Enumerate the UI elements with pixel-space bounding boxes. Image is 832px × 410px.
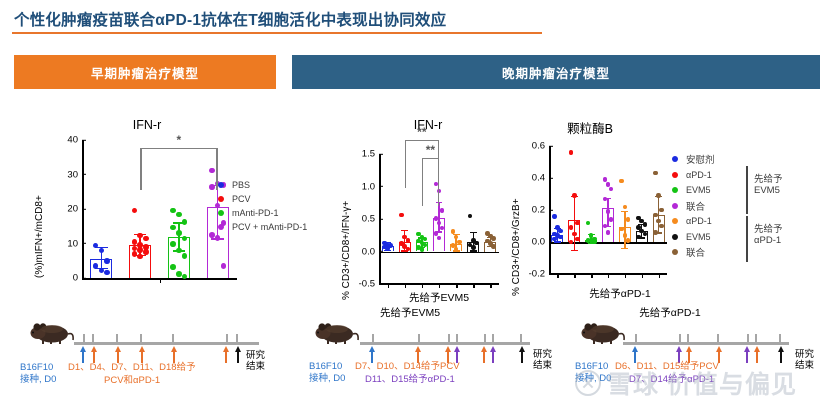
timeline-dose-line1: D7、D10、D14给予PCV xyxy=(355,361,460,373)
timeline-arrow-head xyxy=(171,346,177,352)
timeline-arrow-head xyxy=(235,346,241,352)
legend-swatch-icon xyxy=(672,249,678,255)
legend-item[interactable]: PCV xyxy=(218,192,307,206)
chart-ylabel-late-grzb: % CD3+/CD8+/GrzB+ xyxy=(511,198,522,296)
timeline-tick xyxy=(83,334,85,343)
timeline-mid: 先给予EVM5B16F10接种, D0D7、D10、D14给予PCVD11、D1… xyxy=(305,305,573,408)
timeline-tick xyxy=(687,334,689,343)
timeline-tick xyxy=(140,334,142,343)
timeline-tick xyxy=(635,334,637,343)
timeline-axis xyxy=(623,342,789,345)
data-point xyxy=(143,249,149,255)
timeline-start-line1: B16F10 xyxy=(309,361,345,373)
x-tick xyxy=(490,283,491,288)
data-point xyxy=(182,253,188,259)
timeline-tick xyxy=(226,334,228,343)
data-point xyxy=(137,233,143,239)
data-point xyxy=(176,271,182,277)
data-point xyxy=(653,171,658,176)
mouse-illustration xyxy=(28,320,74,351)
y-tick-label: 0.0 xyxy=(362,246,379,257)
y-tick-label: 40 xyxy=(67,135,82,146)
timeline-arrow-head xyxy=(369,346,375,352)
timeline-tick xyxy=(418,334,420,343)
data-point xyxy=(176,230,182,236)
timeline-arrow-head xyxy=(744,346,750,352)
timeline-start-label: B16F10接种, D0 xyxy=(20,362,56,386)
mouse-illustration-icon xyxy=(28,320,74,346)
timeline-dose-line2: PCV和αPD-1 xyxy=(104,375,160,387)
chart-ylabel-late-ifn: % CD3+/CD8+/IFN-γ+ xyxy=(341,201,352,300)
banner-early-model: 早期肿瘤治疗模型 xyxy=(14,55,276,89)
data-point xyxy=(385,246,390,251)
timeline-arrow-head xyxy=(115,346,121,352)
data-point xyxy=(170,208,176,214)
significance-bracket xyxy=(422,158,439,206)
data-point xyxy=(653,230,658,235)
timeline-end-line1: 研究 xyxy=(246,350,265,361)
mouse-illustration xyxy=(579,320,625,351)
data-point xyxy=(176,248,182,254)
timeline-arrow-head xyxy=(490,346,496,352)
legend-group-brace xyxy=(746,216,748,262)
data-point xyxy=(221,263,227,269)
legend-item[interactable]: 联合 xyxy=(672,245,705,259)
data-point xyxy=(606,230,611,235)
timeline-dose-line1: D1、D4、D7、D11、D18给予 xyxy=(68,362,196,374)
timeline-arrow-head xyxy=(80,346,86,352)
significance-bracket xyxy=(140,148,218,190)
error-bar xyxy=(178,222,179,250)
chart-xlabel-late-grzb: 先给予αPD-1 xyxy=(560,286,680,301)
mouse-illustration-icon xyxy=(313,320,359,346)
error-bar-cap xyxy=(470,250,477,251)
chart-title-early-ifn: IFN-r xyxy=(62,118,232,132)
title-underline xyxy=(12,32,542,34)
timeline-tick xyxy=(172,334,174,343)
data-point xyxy=(451,229,456,234)
timeline-arrow-head xyxy=(454,346,460,352)
significance-star: ** xyxy=(422,143,439,157)
error-bar-cap xyxy=(554,241,561,242)
y-tick-label: 1.5 xyxy=(362,149,379,160)
data-point xyxy=(623,205,628,210)
legend-item[interactable]: PBS xyxy=(218,178,307,192)
x-tick xyxy=(642,273,643,278)
data-point xyxy=(643,222,648,227)
legend-item[interactable]: EVM5 xyxy=(672,183,711,197)
legend-label: EVM5 xyxy=(686,232,711,242)
data-point xyxy=(575,237,580,242)
data-point xyxy=(552,214,557,219)
x-axis xyxy=(549,242,667,244)
banner-late-model: 晚期肿瘤治疗模型 xyxy=(292,55,820,89)
data-point xyxy=(609,187,614,192)
data-point xyxy=(209,232,215,238)
x-tick xyxy=(591,273,592,278)
legend-swatch-icon xyxy=(672,187,678,193)
data-point xyxy=(656,193,661,198)
timeline-arrow-head xyxy=(519,346,525,352)
timeline-start-line2: 接种, D0 xyxy=(20,374,56,386)
x-tick xyxy=(608,273,609,278)
mouse-illustration-icon xyxy=(579,320,625,346)
timeline-tick xyxy=(236,334,238,343)
timeline-tick xyxy=(92,334,94,343)
data-point xyxy=(399,213,404,218)
timeline-tick xyxy=(679,334,681,343)
data-point xyxy=(104,270,110,276)
data-point xyxy=(137,247,143,253)
chart-xlabel-late-ifn: 先给予EVM5 xyxy=(369,290,509,305)
timeline-axis xyxy=(360,342,530,345)
data-point xyxy=(471,245,476,250)
timeline-arrow xyxy=(483,351,486,363)
timeline-arrow-head xyxy=(676,346,682,352)
timeline-tick xyxy=(747,334,749,343)
x-tick xyxy=(160,278,161,283)
y-tick-label: 0 xyxy=(73,273,82,284)
timeline-arrow xyxy=(521,351,524,363)
significance-star: * xyxy=(140,133,218,147)
chart-panel-late-ifn: IFN-r % CD3+/CD8+/IFN-γ+ -0.50.00.51.01.… xyxy=(333,118,513,318)
data-point xyxy=(434,216,439,221)
timeline-right: 先给予αPD-1B16F10接种, D0D6、D11、D15给予PCVD7、D1… xyxy=(575,305,830,408)
data-point xyxy=(170,264,176,270)
legend-item[interactable]: EVM5 xyxy=(672,230,711,244)
timeline-tick xyxy=(755,334,757,343)
legend-label: αPD-1 xyxy=(686,170,712,180)
timeline-tick xyxy=(372,334,374,343)
data-point xyxy=(569,150,574,155)
mouse-illustration xyxy=(313,320,359,351)
plot-area-late-ifn: -0.50.00.51.01.5**** xyxy=(379,154,499,284)
legend-label: 联合 xyxy=(686,199,705,213)
timeline-start-line1: B16F10 xyxy=(575,361,611,373)
timeline-heading: 先给予EVM5 xyxy=(335,305,485,320)
timeline-tick xyxy=(717,334,719,343)
timeline-tick xyxy=(116,334,118,343)
data-point xyxy=(626,217,631,222)
x-tick xyxy=(659,273,660,278)
error-bar-cap xyxy=(621,211,628,212)
legend-group-line2: αPD-1 xyxy=(754,235,783,246)
legend-label: EVM5 xyxy=(686,185,711,195)
timeline-arrow-head xyxy=(686,346,692,352)
data-point xyxy=(491,236,496,241)
y-tick-label: 0.4 xyxy=(532,173,549,184)
data-point xyxy=(586,221,591,226)
legend-label: PBS xyxy=(232,180,250,190)
timeline-arrow xyxy=(225,351,228,363)
error-bar-cap xyxy=(470,232,477,233)
legend-swatch-icon xyxy=(218,182,224,188)
y-tick-label: 20 xyxy=(67,204,82,215)
x-tick xyxy=(405,283,406,288)
timeline-arrow-head xyxy=(778,346,784,352)
data-point xyxy=(99,248,105,254)
y-tick-label: 0.2 xyxy=(532,205,549,216)
legend-item[interactable]: 安慰剂 xyxy=(672,152,715,166)
timeline-arrow-head xyxy=(481,346,487,352)
x-tick xyxy=(456,283,457,288)
timeline-tick xyxy=(456,334,458,343)
legend-swatch-icon xyxy=(672,203,678,209)
legend-swatch-icon xyxy=(672,218,678,224)
chart-title-late-grzb: 颗粒酶B xyxy=(515,118,665,137)
timeline-end-line2: 结束 xyxy=(533,360,552,371)
legend-group-brace xyxy=(746,166,748,214)
timeline-arrow xyxy=(780,351,783,363)
data-point xyxy=(176,212,182,218)
timeline-dose-line2: D7、D14给予αPD-1 xyxy=(629,374,714,386)
timeline-early: B16F10接种, D0D1、D4、D7、D11、D18给予PCV和αPD-1研… xyxy=(14,318,294,408)
timeline-end-line1: 研究 xyxy=(533,349,552,360)
timeline-start-label: B16F10接种, D0 xyxy=(309,361,345,385)
data-point xyxy=(572,193,577,198)
data-point xyxy=(440,208,445,213)
chart-ylabel-early-ifn: (%)mIFN+/mCD8+ xyxy=(34,195,45,278)
legend-item[interactable]: PCV + mAnti-PD-1 xyxy=(218,220,307,234)
timeline-start-line2: 接种, D0 xyxy=(309,373,345,385)
timeline-end-label: 研究结束 xyxy=(795,349,814,371)
timeline-arrow-head xyxy=(632,346,638,352)
timeline-start-line2: 接种, D0 xyxy=(575,373,611,385)
legend-group-line2: EVM5 xyxy=(754,185,783,196)
timeline-tick xyxy=(492,334,494,343)
legend-item[interactable]: αPD-1 xyxy=(672,214,712,228)
timeline-arrow xyxy=(492,351,495,363)
data-point xyxy=(104,258,110,264)
data-point xyxy=(468,214,473,219)
legend-label: 联合 xyxy=(686,245,705,259)
data-point xyxy=(454,235,459,240)
x-tick xyxy=(439,283,440,288)
plot-area-early-ifn: 010203040* xyxy=(82,140,237,278)
timeline-heading: 先给予αPD-1 xyxy=(595,305,745,320)
timeline-end-line2: 结束 xyxy=(795,360,814,371)
legend-item[interactable]: αPD-1 xyxy=(672,168,712,182)
data-point xyxy=(572,232,577,237)
x-tick xyxy=(625,273,626,278)
data-point xyxy=(659,208,664,213)
data-point xyxy=(606,182,611,187)
significance-star: ** xyxy=(405,125,439,139)
data-point xyxy=(132,208,138,214)
data-point xyxy=(491,244,496,249)
data-point xyxy=(170,225,176,231)
timeline-arrow-head xyxy=(223,346,229,352)
timeline-arrow-head xyxy=(445,346,451,352)
y-tick-label: -0.5 xyxy=(359,279,379,290)
timeline-arrow-head xyxy=(139,346,145,352)
timeline-arrow-head xyxy=(716,346,722,352)
data-point xyxy=(170,241,176,247)
timeline-arrow-head xyxy=(91,346,97,352)
x-tick xyxy=(574,273,575,278)
y-tick-label: 0.0 xyxy=(532,237,549,248)
data-point xyxy=(420,247,425,252)
y-tick-label: 1.0 xyxy=(362,181,379,192)
data-point xyxy=(592,240,597,245)
data-point xyxy=(434,231,439,236)
plot-area-late-grzb: -0.20.00.20.40.6 xyxy=(549,146,667,274)
timeline-tick xyxy=(448,334,450,343)
data-point xyxy=(606,209,611,214)
page-title: 个性化肿瘤疫苗联合αPD-1抗体在T细胞活化中表现出协同效应 xyxy=(14,8,446,30)
error-bar-cap xyxy=(401,230,408,231)
data-point xyxy=(626,238,631,243)
timeline-end-label: 研究结束 xyxy=(533,349,552,371)
data-point xyxy=(575,221,580,226)
legend-swatch-icon xyxy=(672,234,678,240)
timeline-tick xyxy=(484,334,486,343)
timeline-dose-line1: D6、D11、D15给予PCV xyxy=(615,361,719,373)
legend-swatch-icon xyxy=(218,210,224,216)
y-tick-label: 0.6 xyxy=(532,141,549,152)
legend-swatch-icon xyxy=(218,196,224,202)
timeline-end-line1: 研究 xyxy=(795,349,814,360)
legend-label: PCV xyxy=(232,194,251,204)
data-point xyxy=(653,213,658,218)
legend-group-label: 先给予EVM5 xyxy=(754,174,783,196)
timeline-arrow-head xyxy=(754,346,760,352)
timeline-end-line2: 结束 xyxy=(246,361,265,372)
legend-early-model: PBSPCVmAnti-PD-1PCV + mAnti-PD-1 xyxy=(218,178,307,234)
timeline-arrow xyxy=(746,351,749,363)
timeline-start-line1: B16F10 xyxy=(20,362,56,374)
legend-group-line1: 先给予 xyxy=(754,224,783,235)
timeline-tick xyxy=(779,334,781,343)
error-bar-cap xyxy=(571,250,578,251)
y-tick-label: 10 xyxy=(67,238,82,249)
timeline-tick xyxy=(520,334,522,343)
data-point xyxy=(132,251,138,257)
legend-label: 安慰剂 xyxy=(686,152,715,166)
legend-label: PCV + mAnti-PD-1 xyxy=(232,222,307,232)
legend-label: αPD-1 xyxy=(686,216,712,226)
data-point xyxy=(93,263,99,269)
x-tick xyxy=(557,273,558,278)
x-tick xyxy=(388,283,389,288)
legend-swatch-icon xyxy=(672,156,678,162)
timeline-arrow xyxy=(237,351,240,363)
timeline-dose-line2: D11、D15给予αPD-1 xyxy=(365,374,455,386)
timeline-arrow-head xyxy=(415,346,421,352)
data-point xyxy=(619,179,624,184)
legend-group-label: 先给予αPD-1 xyxy=(754,224,783,246)
legend-swatch-icon xyxy=(672,172,678,178)
legend-label: mAnti-PD-1 xyxy=(232,208,279,218)
y-tick-label: -0.2 xyxy=(529,269,549,280)
error-bar-cap xyxy=(621,248,628,249)
chart-panel-late-grzb: 颗粒酶B % CD3+/CD8+/GrzB+ -0.20.00.20.40.6 … xyxy=(505,118,680,318)
x-tick xyxy=(473,283,474,288)
y-tick-label: 30 xyxy=(67,169,82,180)
data-point xyxy=(603,197,608,202)
legend-item[interactable]: mAnti-PD-1 xyxy=(218,206,307,220)
timeline-end-label: 研究结束 xyxy=(246,350,265,372)
y-tick-label: 0.5 xyxy=(362,214,379,225)
data-point xyxy=(215,235,221,241)
data-point xyxy=(457,240,462,245)
data-point xyxy=(182,219,188,225)
legend-late-model: 安慰剂αPD-1EVM5联合αPD-1EVM5联合先给予EVM5先给予αPD-1 xyxy=(672,152,832,264)
x-axis xyxy=(379,252,499,254)
timeline-arrow xyxy=(756,351,759,363)
data-point xyxy=(143,236,149,242)
data-point xyxy=(132,239,138,245)
data-point xyxy=(406,238,411,243)
legend-group-line1: 先给予 xyxy=(754,174,783,185)
data-point xyxy=(552,237,557,242)
timeline-start-label: B16F10接种, D0 xyxy=(575,361,611,385)
legend-item[interactable]: 联合 xyxy=(672,199,705,213)
x-tick xyxy=(422,283,423,288)
timeline-axis xyxy=(74,342,259,345)
legend-swatch-icon xyxy=(218,224,224,230)
